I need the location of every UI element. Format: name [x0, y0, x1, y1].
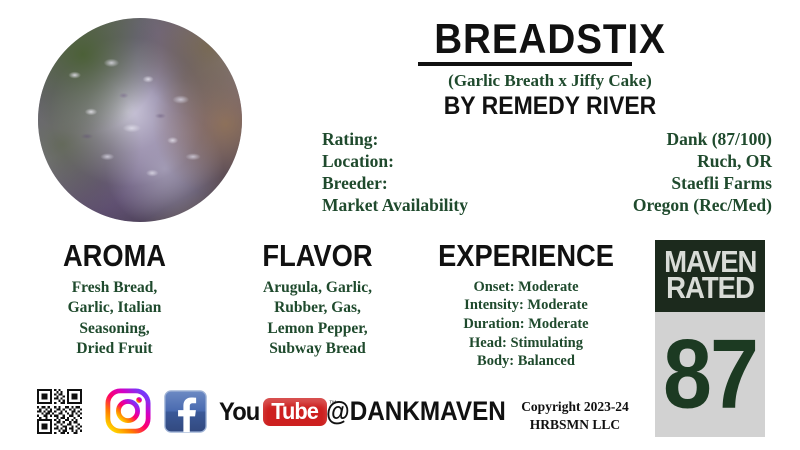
strain-genetics-subtitle: (Garlic Breath x Jiffy Cake)	[300, 71, 800, 91]
badge-header: MAVEN RATED	[655, 240, 765, 312]
spec-list: Rating: Dank (87/100) Location: Ruch, OR…	[322, 128, 772, 217]
spec-value: Ruch, OR	[697, 150, 772, 172]
spec-label: Breeder:	[322, 172, 388, 194]
spec-value: Oregon (Rec/Med)	[633, 194, 772, 216]
experience-column: EXPERIENCE Onset: ModerateIntensity: Mod…	[418, 240, 634, 371]
instagram-link[interactable]	[105, 388, 151, 434]
copyright-line-1: Copyright 2023-24	[480, 398, 670, 416]
aroma-column: AROMA Fresh Bread,Garlic, ItalianSeasoni…	[12, 240, 217, 360]
facebook-icon	[164, 390, 207, 433]
social-handle: @DANKMAVEN	[326, 396, 506, 427]
instagram-icon	[105, 388, 151, 434]
youtube-link[interactable]: You Tube ™	[218, 397, 337, 427]
spec-row-market-availability: Market Availability Oregon (Rec/Med)	[322, 194, 772, 216]
experience-heading: EXPERIENCE	[431, 240, 621, 273]
facebook-link[interactable]	[164, 390, 207, 433]
spec-row-rating: Rating: Dank (87/100)	[322, 128, 772, 150]
flavor-list: Arugula, Garlic,Rubber, Gas,Lemon Pepper…	[215, 278, 420, 360]
spec-value: Dank (87/100)	[667, 128, 773, 150]
youtube-tube-badge: Tube	[263, 398, 326, 425]
aroma-heading: AROMA	[24, 240, 204, 273]
spec-label: Market Availability	[322, 194, 468, 216]
copyright-notice: Copyright 2023-24 HRBSMN LLC	[480, 398, 670, 434]
youtube-you-text: You	[219, 398, 259, 427]
qr-code[interactable]	[37, 389, 82, 434]
spec-label: Location:	[322, 150, 394, 172]
flavor-column: FLAVOR Arugula, Garlic,Rubber, Gas,Lemon…	[215, 240, 420, 360]
page-title: BREADSTIX	[320, 18, 780, 60]
grower-byline: BY REMEDY RIVER	[320, 92, 780, 121]
copyright-line-2: HRBSMN LLC	[480, 416, 670, 434]
spec-row-location: Location: Ruch, OR	[322, 150, 772, 172]
spec-row-breeder: Breeder: Staefli Farms	[322, 172, 772, 194]
qr-code-icon	[37, 389, 82, 434]
cannabis-bud-macro-image	[38, 18, 242, 222]
youtube-tube-text: Tube	[272, 399, 319, 423]
spec-label: Rating:	[322, 128, 378, 150]
title-underline	[418, 62, 632, 66]
maven-rated-badge: MAVEN RATED 87	[655, 240, 765, 437]
experience-list: Onset: ModerateIntensity: ModerateDurati…	[418, 278, 634, 372]
spec-value: Staefli Farms	[671, 172, 772, 194]
product-photo	[38, 18, 242, 222]
badge-score-area: 87	[655, 312, 765, 437]
strain-review-card: BREADSTIX (Garlic Breath x Jiffy Cake) B…	[0, 0, 800, 450]
flavor-heading: FLAVOR	[227, 240, 407, 273]
badge-word-rated: RATED	[666, 274, 754, 303]
aroma-list: Fresh Bread,Garlic, ItalianSeasoning,Dri…	[12, 278, 217, 360]
badge-score: 87	[663, 333, 757, 417]
